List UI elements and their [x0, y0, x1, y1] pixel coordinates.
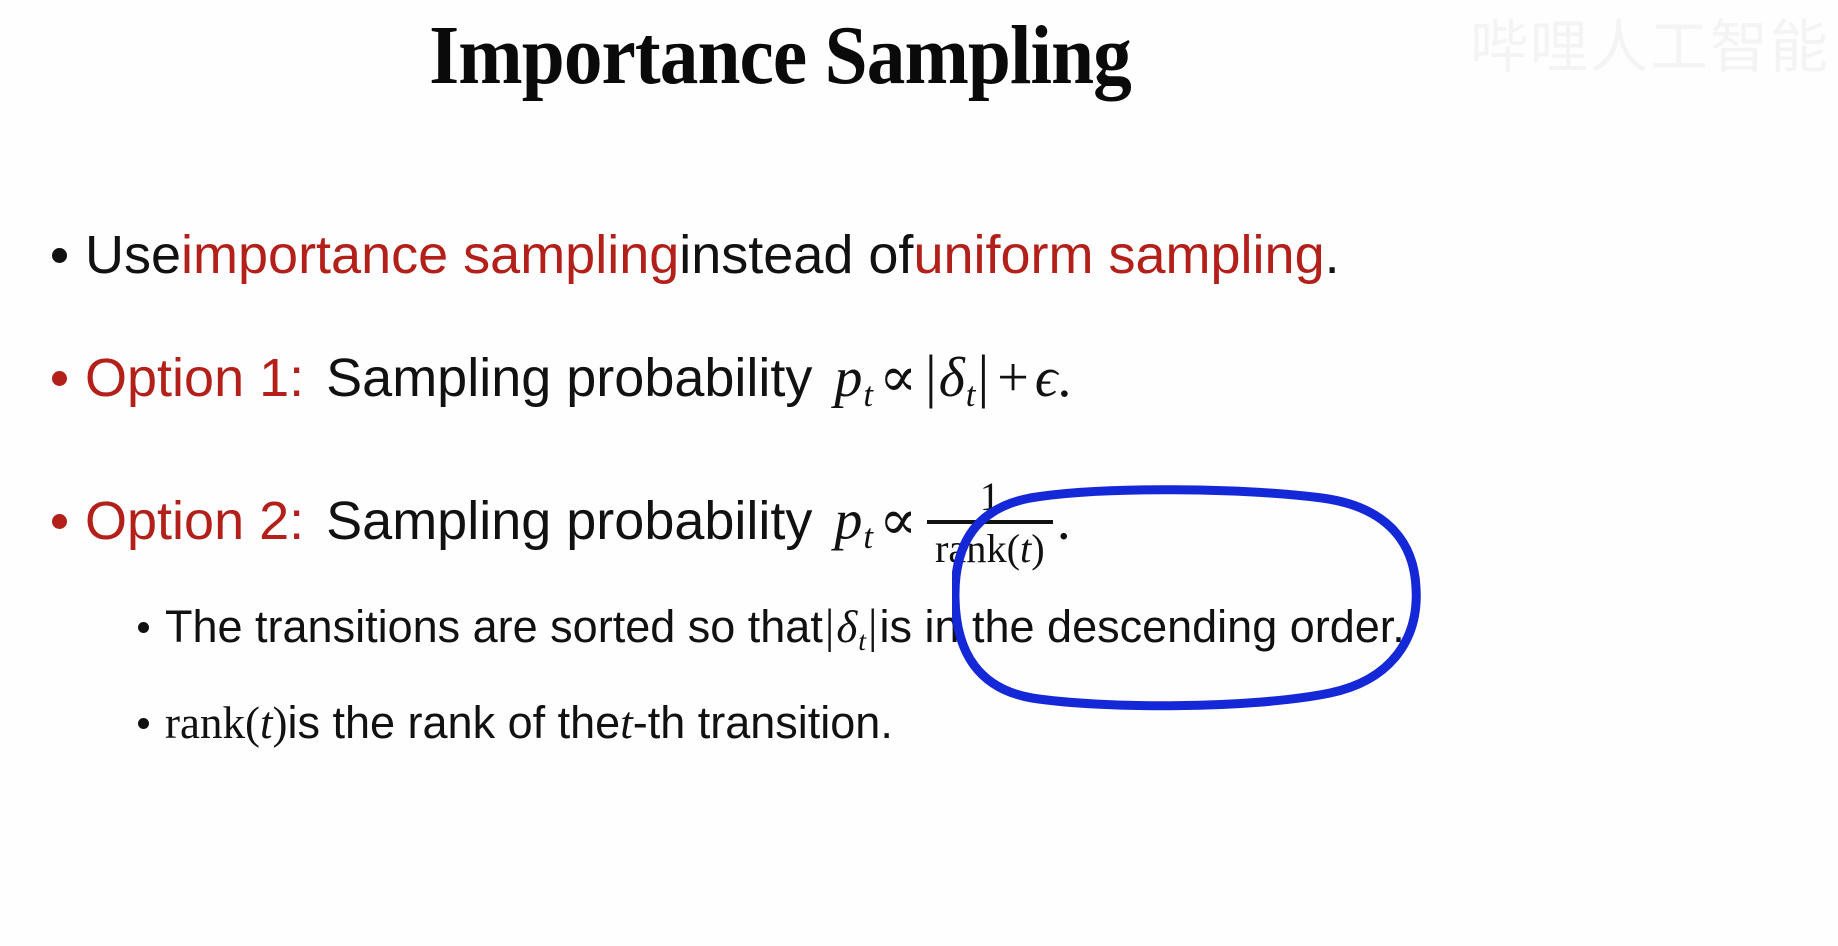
fraction-denominator: rank(t) [927, 524, 1053, 571]
fraction-numerator: 1 [970, 476, 1010, 520]
formula-sub-t: t [863, 375, 873, 414]
formula-delta: δ [836, 602, 857, 652]
option-1-text: Sampling probability [326, 351, 812, 405]
bullet-text-use-period: . [1325, 228, 1340, 282]
formula-period: . [1057, 490, 1071, 552]
slide-canvas: 哔哩人工智能 Importance Sampling Use importanc… [0, 0, 1838, 946]
denominator-paren-close: ) [1031, 526, 1044, 571]
sub-bullet-formula-t: t [620, 701, 633, 746]
bullet-dot-icon [52, 248, 67, 263]
formula-epsilon: ϵ [1035, 347, 1058, 409]
bullet-text-importance-sampling: importance sampling [181, 228, 679, 282]
sub-bullet-text-b: is in the descending order. [879, 604, 1404, 649]
formula-abs-open: | [823, 601, 836, 653]
denominator-paren-open: ( [1007, 526, 1020, 571]
bullet-dot-icon [52, 514, 67, 529]
bullet-text-use-2: instead of [679, 228, 913, 282]
formula-fraction: 1rank(t) [927, 476, 1053, 572]
formula-delta-sub-t: t [966, 375, 976, 414]
bullet-text-uniform-sampling: uniform sampling [913, 228, 1324, 282]
bullet-item-option-1: Option 1: Sampling probability pt∝|δt|+ϵ… [0, 348, 1071, 412]
bullet-dot-icon [138, 718, 149, 729]
formula-abs-open: | [923, 344, 939, 409]
sub-bullet-formula-abs-delta: |δt| [823, 604, 880, 656]
formula-abs-close: | [975, 344, 991, 409]
bullet-dot-icon [52, 371, 67, 386]
formula-plus: + [991, 347, 1035, 409]
formula-period: . [1057, 347, 1071, 409]
sub-bullet-item-rank: rank(t) is the rank of the t -th transit… [0, 700, 893, 746]
option-1-formula: pt∝|δt|+ϵ. [834, 348, 1071, 412]
formula-proportional-icon: ∝ [873, 347, 923, 409]
formula-fn-rank: rank [165, 698, 245, 748]
formula-paren-close: ) [272, 698, 287, 748]
formula-delta-sub-t: t [858, 626, 866, 657]
formula-sub-t: t [863, 517, 873, 556]
formula-paren-open: ( [245, 698, 260, 748]
option-2-label: Option 2: [85, 494, 304, 548]
option-2-formula: pt∝1rank(t). [834, 478, 1070, 574]
sub-bullet-text-a: is the rank of the [287, 700, 620, 745]
denominator-fn-rank: rank [935, 526, 1007, 571]
bullet-text-use-1: Use [85, 228, 181, 282]
sub-bullet-text-a: The transitions are sorted so that [165, 604, 823, 649]
option-1-label: Option 1: [85, 351, 304, 405]
bullet-item-option-2: Option 2: Sampling probability pt∝1rank(… [0, 478, 1071, 574]
bullet-dot-icon [138, 622, 149, 633]
sub-bullet-text-b: -th transition. [633, 700, 893, 745]
formula-proportional-icon: ∝ [873, 490, 923, 552]
formula-var-p: p [834, 490, 862, 552]
sub-bullet-item-sorted: The transitions are sorted so that |δt| … [0, 604, 1405, 656]
formula-delta: δ [939, 347, 965, 409]
formula-arg-t: t [260, 698, 273, 748]
formula-abs-close: | [866, 601, 879, 653]
watermark: 哔哩人工智能 [1470, 18, 1830, 76]
sub-bullet-formula-rank: rank(t) [165, 701, 287, 746]
denominator-arg-t: t [1020, 526, 1031, 571]
option-2-text: Sampling probability [326, 494, 812, 548]
page-title: Importance Sampling [62, 12, 1497, 100]
formula-var-p: p [834, 347, 862, 409]
bullet-item-use: Use importance sampling instead of unifo… [0, 228, 1340, 282]
